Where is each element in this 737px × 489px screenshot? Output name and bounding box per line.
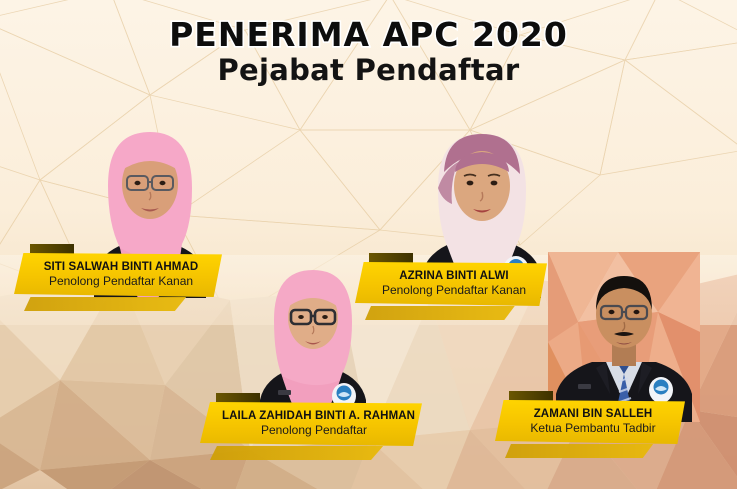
- person-role-1: Penolong Pendaftar Kanan: [36, 274, 206, 288]
- name-ribbon-4: ZAMANI BIN SALLEH Ketua Pembantu Tadbir: [495, 400, 685, 444]
- ribbon-shadow-4: [505, 444, 653, 458]
- ribbon-shadow-2: [365, 306, 515, 320]
- name-ribbon-3: LAILA ZAHIDAH BINTI A. RAHMAN Penolong P…: [200, 402, 422, 446]
- page-subtitle: Pejabat Pendaftar: [0, 54, 737, 87]
- person-name-4: ZAMANI BIN SALLEH: [517, 408, 669, 421]
- poster-canvas: PENERIMA APC 2020 Pejabat Pendaftar: [0, 0, 737, 489]
- portrait-photo-4: [548, 252, 700, 422]
- person-name-1: SITI SALWAH BINTI AHMAD: [36, 261, 206, 274]
- poster-title-block: PENERIMA APC 2020 Pejabat Pendaftar: [0, 18, 737, 87]
- ribbon-plate-3: LAILA ZAHIDAH BINTI A. RAHMAN Penolong P…: [200, 402, 422, 446]
- person-name-2: AZRINA BINTI ALWI: [377, 270, 531, 283]
- person-role-2: Penolong Pendaftar Kanan: [377, 283, 531, 297]
- page-title: PENERIMA APC 2020: [0, 18, 737, 52]
- person-name-3: LAILA ZAHIDAH BINTI A. RAHMAN: [222, 410, 406, 423]
- person-role-3: Penolong Pendaftar: [222, 423, 406, 437]
- ribbon-plate-2: AZRINA BINTI ALWI Penolong Pendaftar Kan…: [355, 262, 547, 306]
- person-role-4: Ketua Pembantu Tadbir: [517, 421, 669, 435]
- ribbon-shadow-3: [210, 446, 383, 460]
- person-card-4: [548, 252, 700, 422]
- name-ribbon-2: AZRINA BINTI ALWI Penolong Pendaftar Kan…: [355, 262, 547, 306]
- name-ribbon-1: SITI SALWAH BINTI AHMAD Penolong Pendaft…: [14, 253, 222, 297]
- ribbon-shadow-1: [24, 297, 186, 311]
- ribbon-plate-4: ZAMANI BIN SALLEH Ketua Pembantu Tadbir: [495, 400, 685, 444]
- ribbon-plate-1: SITI SALWAH BINTI AHMAD Penolong Pendaft…: [14, 253, 222, 297]
